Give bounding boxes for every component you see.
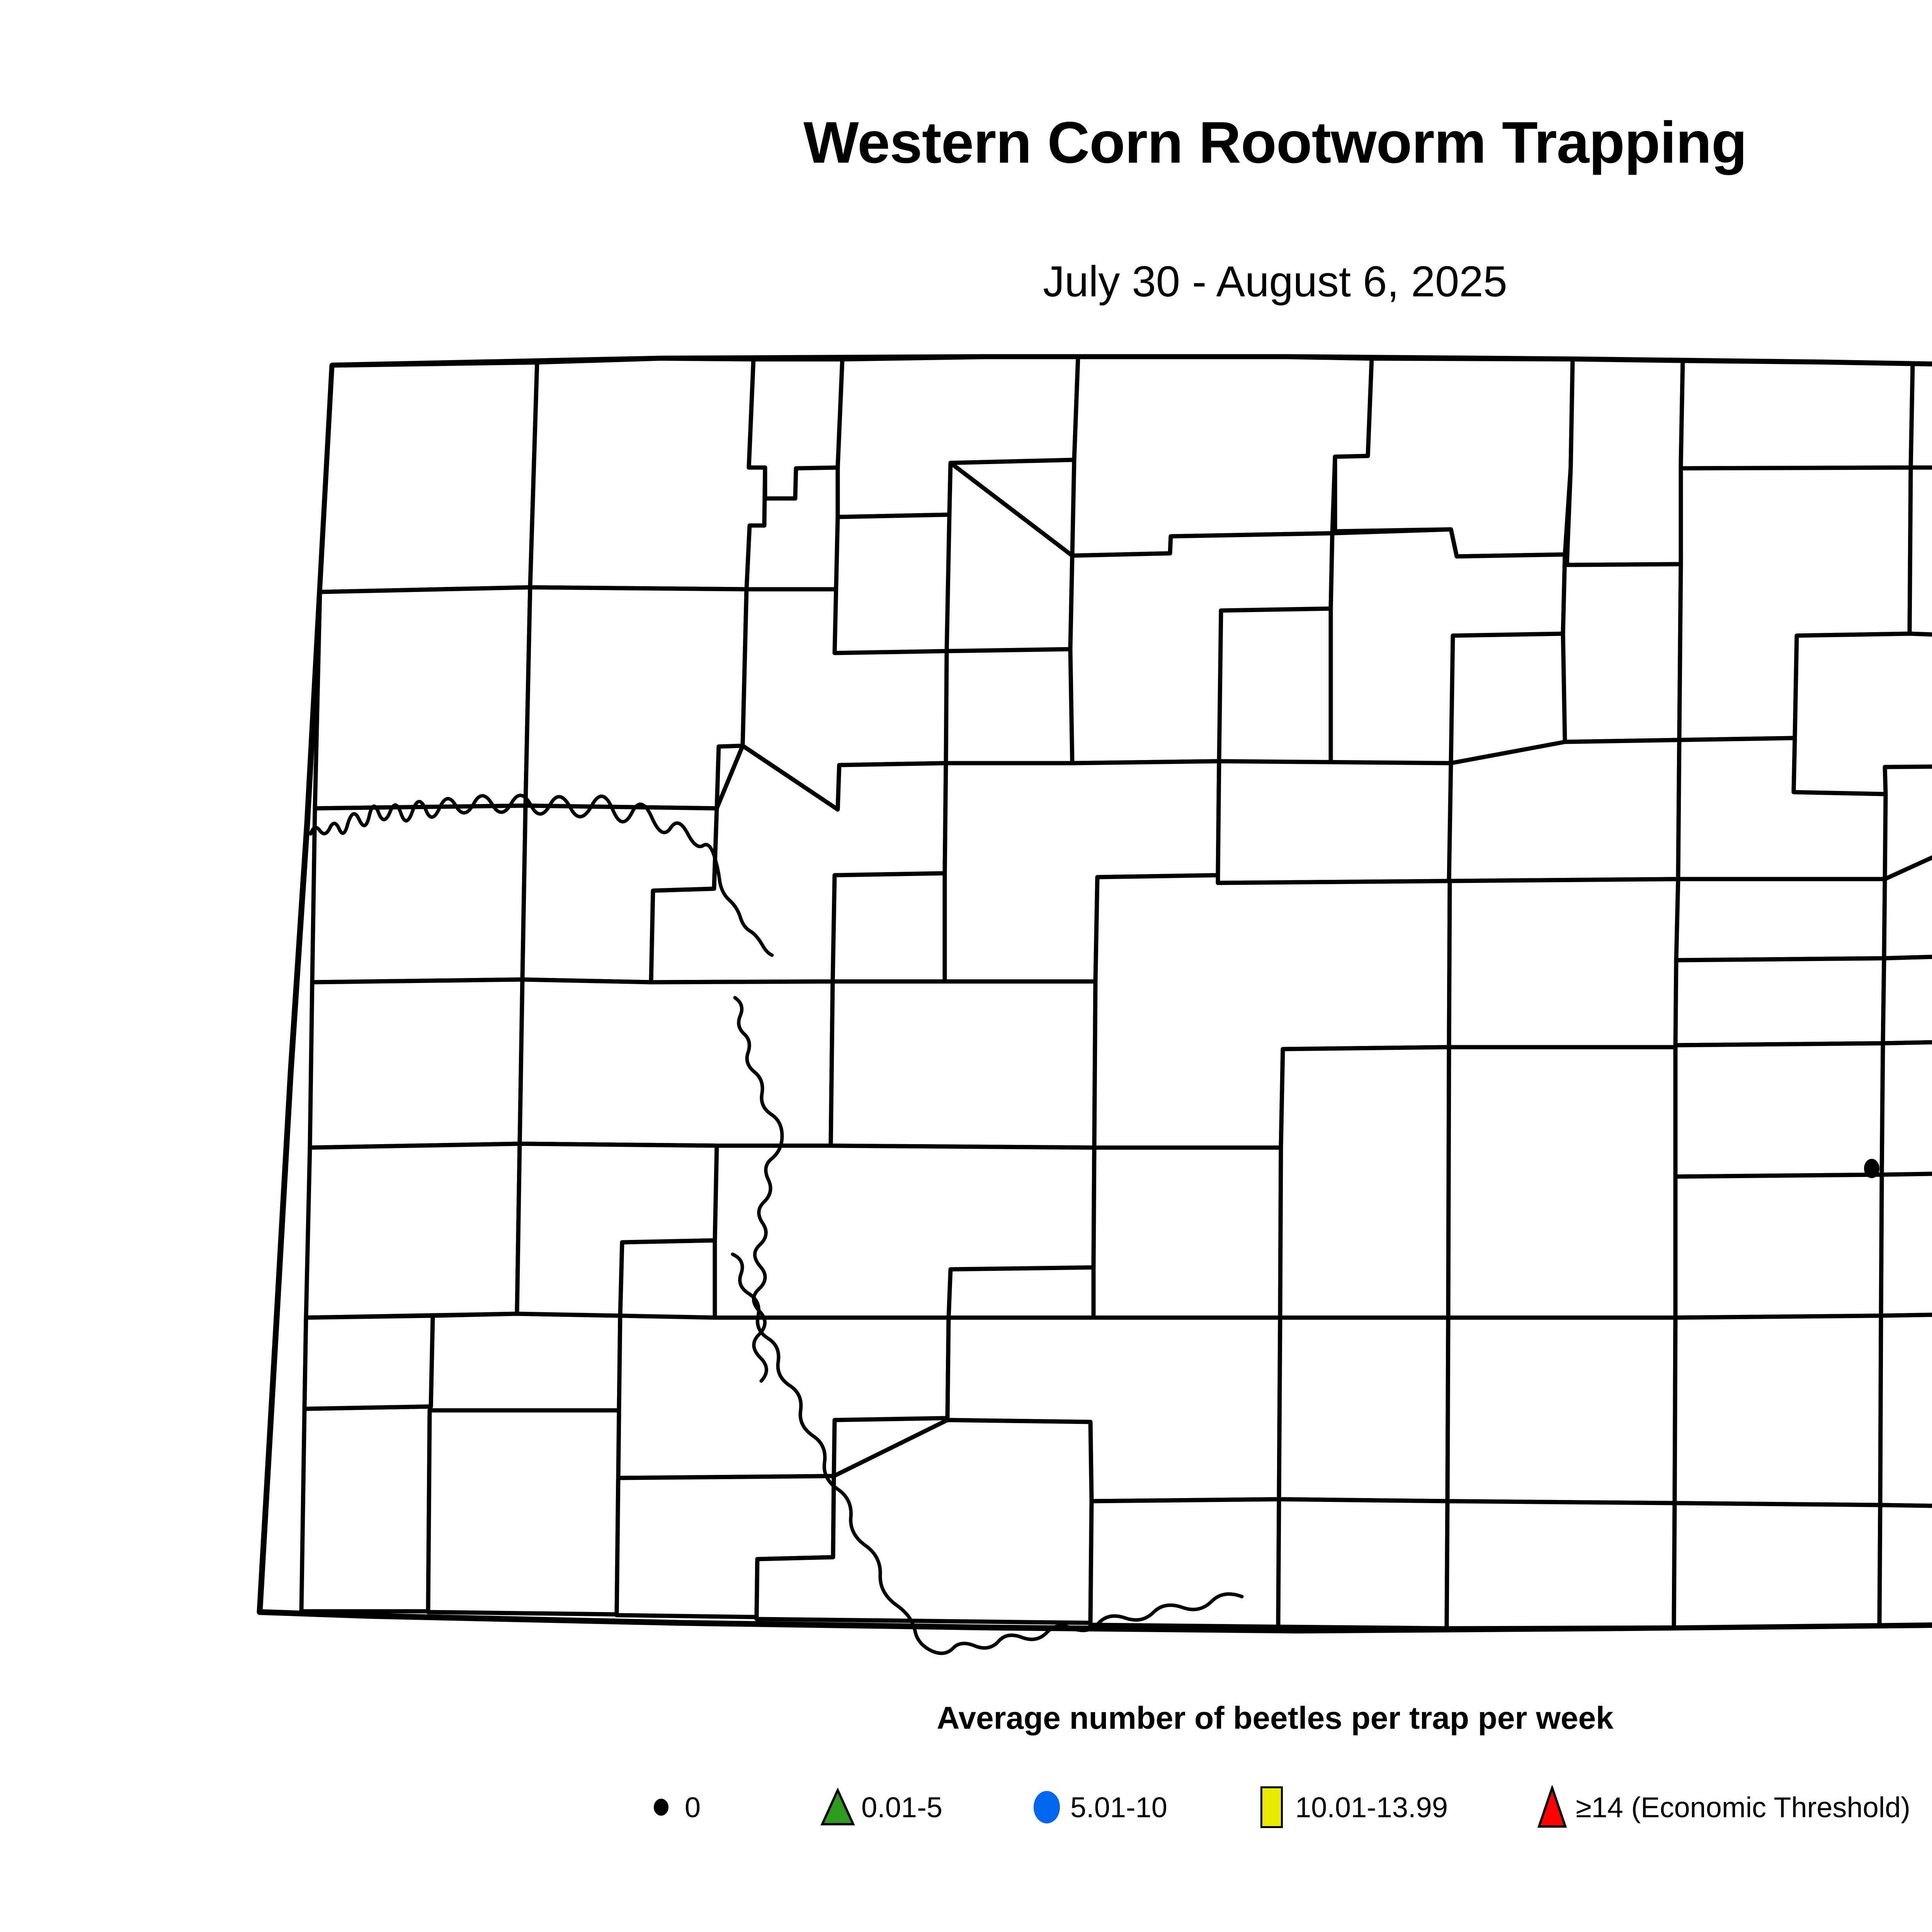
county-stutsman: [1448, 1047, 1677, 1318]
county-mcintosh: [1278, 1499, 1447, 1628]
county-barnes: [1675, 1175, 1882, 1318]
page-title: Western Corn Rootworm Trapping: [0, 112, 1932, 174]
county-ward-n: [835, 515, 949, 653]
legend-item-threshold[interactable]: ≥14 (Economic Threshold): [1531, 1782, 1910, 1832]
legend-label-threshold: ≥14 (Economic Threshold): [1573, 1791, 1910, 1824]
county-williams-2: [526, 587, 747, 808]
county-cavalier: [1681, 361, 1913, 468]
county-mountrail-s: [520, 980, 833, 1148]
county-griggs: [1675, 958, 1884, 1045]
county-slope: [301, 1406, 431, 1611]
county-williams: [530, 359, 765, 589]
county-benson: [1563, 554, 1681, 742]
county-hettinger: [428, 1410, 619, 1614]
legend-label-high: 10.01-13.99: [1293, 1791, 1448, 1824]
blue-circle-icon: [1026, 1786, 1068, 1828]
yellow-square-icon: [1250, 1786, 1293, 1828]
county-eddy-n: [1449, 740, 1679, 881]
legend-label-mid: 5.01-10: [1068, 1791, 1167, 1824]
county-richland: [1880, 1314, 1932, 1510]
county-towner: [1567, 359, 1683, 565]
county-sargent: [1674, 1503, 1880, 1628]
county-divide: [320, 362, 537, 592]
county-stark-n: [430, 1314, 620, 1410]
county-mclean: [831, 981, 1095, 1148]
county-traill-n: [1883, 951, 1932, 1043]
legend-label-low: 0.01-5: [859, 1791, 942, 1824]
green-triangle-icon: [816, 1786, 859, 1828]
county-wells: [1449, 879, 1678, 1047]
county-barnes-n: [1675, 1043, 1883, 1177]
map-svg[interactable]: [216, 340, 1932, 1662]
legend-title: Average number of beetles per trap per w…: [0, 1700, 1932, 1736]
county-logan: [1279, 1318, 1448, 1501]
county-divide-2: [315, 587, 530, 808]
trap-point-dot[interactable]: [1864, 1159, 1879, 1178]
county-rolette: [1335, 359, 1573, 556]
county-billings: [306, 1144, 520, 1318]
county-eddy: [1676, 879, 1885, 960]
county-walsh: [1910, 468, 1932, 641]
legend-item-high[interactable]: 10.01-13.99: [1250, 1782, 1448, 1832]
black-dot-icon: [640, 1786, 682, 1828]
legend-label-zero: 0: [682, 1791, 701, 1824]
county-bottineau: [1072, 357, 1372, 556]
poster-root: Western Corn Rootworm Trapping July 30 -…: [0, 0, 1932, 1932]
legend-item-zero[interactable]: 0: [640, 1782, 701, 1832]
county-burleigh-n: [1094, 1148, 1281, 1318]
county-wells-n: [1218, 761, 1451, 883]
county-ransom-n: [1881, 1173, 1932, 1316]
county-kidder: [1280, 1047, 1449, 1318]
county-ransom: [1675, 1316, 1881, 1505]
county-pembina: [1911, 364, 1932, 468]
north-dakota-county-map[interactable]: [216, 340, 1932, 1662]
county-richland-s: [1879, 1505, 1932, 1625]
date-range-subtitle: July 30 - August 6, 2025: [0, 259, 1932, 304]
red-triangle-icon: [1531, 1786, 1573, 1828]
county-cass-n: [1882, 1037, 1932, 1179]
county-gv-2: [304, 1316, 433, 1409]
legend: 0 0.01-5 5.01-10 10.01-13.99: [0, 1782, 1932, 1832]
county-dickey: [1447, 1501, 1675, 1628]
legend-item-mid[interactable]: 5.01-10: [1026, 1782, 1167, 1832]
county-lamoure: [1447, 1318, 1675, 1503]
legend-item-low[interactable]: 0.01-5: [816, 1782, 942, 1832]
county-layer: [260, 357, 1932, 1631]
county-mckenzie: [310, 980, 522, 1148]
